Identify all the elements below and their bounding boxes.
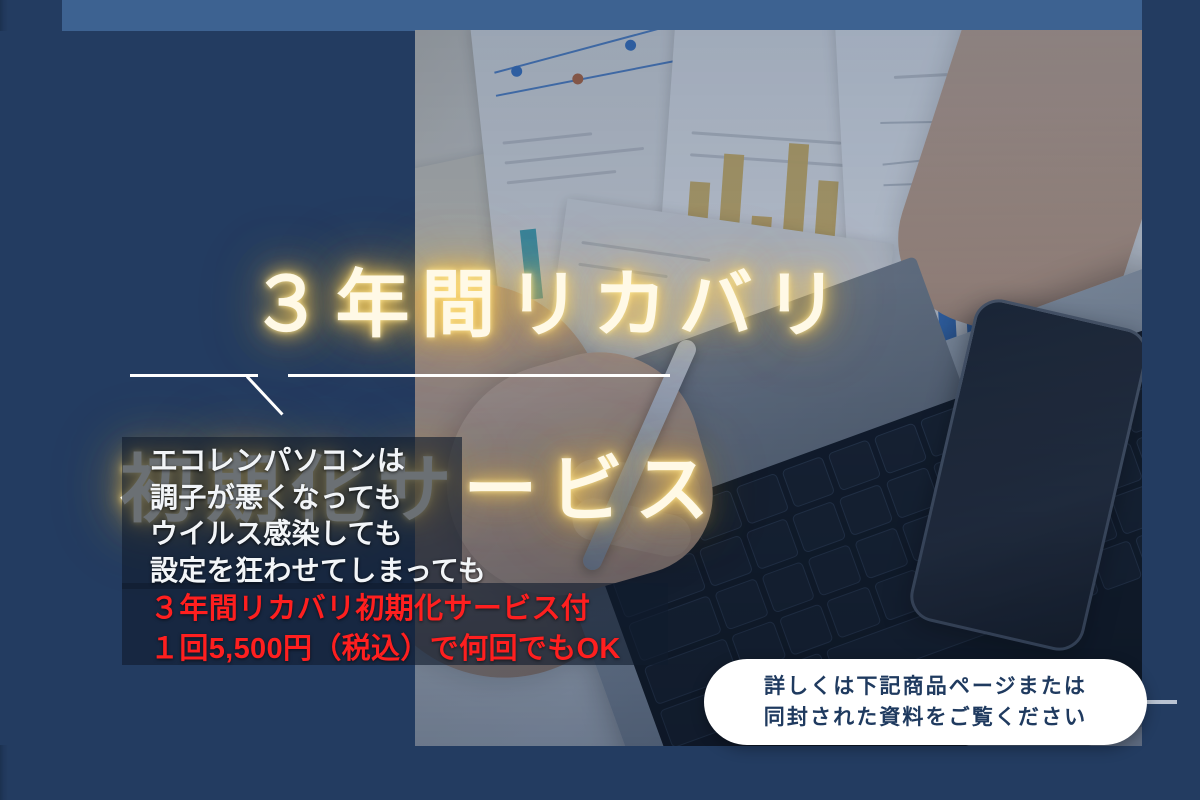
divider-rule-left [130, 374, 258, 377]
copy-line: ウイルス感染しても [150, 516, 710, 553]
copy-line-highlight: ３年間リカバリ初期化サービス付 [150, 589, 710, 629]
top-accent-band [62, 0, 1142, 31]
divider-rule-right [288, 374, 670, 377]
copy-line: エコレンパソコンは [150, 443, 710, 480]
callout-line-2: 同封された資料をご覧ください [764, 702, 1087, 733]
body-copy: エコレンパソコンは 調子が悪くなっても ウイルス感染しても 設定を狂わせてしまっ… [150, 443, 710, 669]
callout-pill[interactable]: 詳しくは下記商品ページまたは 同封された資料をご覧ください [704, 659, 1147, 745]
copy-line: 調子が悪くなっても [150, 480, 710, 517]
promo-banner: ３年間リカバリ 初期化サービス エコレンパソコンは 調子が悪くなっても ウイルス… [0, 0, 1200, 800]
headline-line-1: ３年間リカバリ [250, 263, 851, 346]
callout-line-1: 詳しくは下記商品ページまたは [764, 671, 1087, 702]
copy-line-highlight: １回5,500円（税込）で何回でもOK [150, 629, 710, 669]
copy-line: 設定を狂わせてしまっても [150, 553, 710, 590]
